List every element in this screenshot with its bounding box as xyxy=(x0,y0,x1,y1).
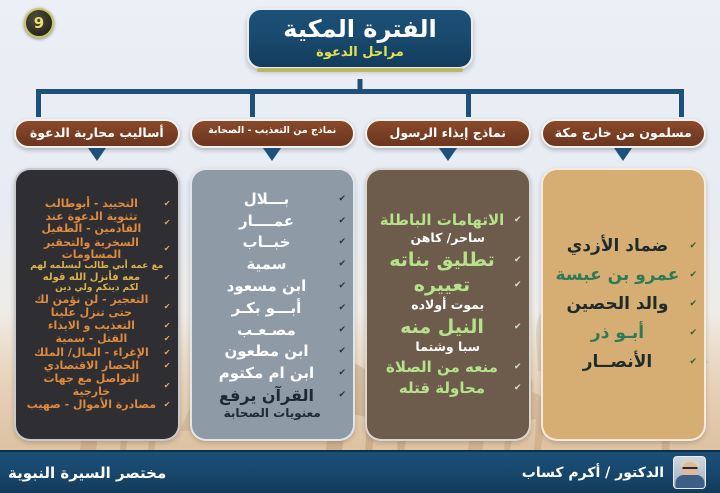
down-arrow-icon-3 xyxy=(263,148,281,161)
check-icon: ✔ xyxy=(338,304,346,313)
list-item: عمــــار xyxy=(199,213,335,230)
list-item: عمرو بن عبسة xyxy=(550,266,686,285)
check-icon: ✔ xyxy=(338,326,346,335)
down-arrow-icon-4 xyxy=(88,148,106,161)
arrow-cell-2 xyxy=(365,148,531,170)
check-icon: ✔ xyxy=(164,382,171,390)
book-title: مختصر السيرة النبوية xyxy=(8,464,166,482)
panel-muslims-outside-mecca: ✔ضماد الأزدي ✔عمرو بن عبسة ✔والد الحصين … xyxy=(541,168,707,441)
avatar-body xyxy=(675,475,704,488)
column-header-2[interactable]: نماذج إيذاء الرسول xyxy=(365,119,531,148)
list-item: أبـو ذر xyxy=(550,324,686,343)
check-icon: ✔ xyxy=(164,401,171,409)
list-item-sub: ساحر/ كاهن xyxy=(374,231,522,245)
list-item: والد الحصين xyxy=(550,295,686,314)
connector-bar xyxy=(36,89,684,94)
list-item: بـــلال xyxy=(199,191,335,208)
title-box: الفترة المكية مراحل الدعوة xyxy=(247,8,472,69)
list-item: ضماد الأزدي xyxy=(550,237,686,256)
check-icon: ✔ xyxy=(338,369,346,378)
check-icon: ✔ xyxy=(514,216,522,225)
list-item: سمية xyxy=(199,256,335,273)
check-icon: ✔ xyxy=(514,256,522,265)
list-item: الإغراء - المال/ الملك xyxy=(23,347,160,359)
check-icon: ✔ xyxy=(338,391,346,400)
list-item: ابن مطعون xyxy=(199,343,335,360)
check-icon: ✔ xyxy=(338,217,346,226)
column-header-3[interactable]: نماذج من التعذيب - الصحابة xyxy=(190,119,356,148)
check-icon: ✔ xyxy=(164,335,171,343)
list-item: مصـعـب xyxy=(199,322,335,339)
list-item: القرآن يرفع xyxy=(199,387,335,405)
column-header-1[interactable]: مسلمون من خارج مكة xyxy=(541,119,707,148)
list-item: محاولة قتله xyxy=(374,380,510,397)
check-icon: ✔ xyxy=(164,274,171,282)
check-icon: ✔ xyxy=(689,329,697,338)
connector-drop-4 xyxy=(679,93,684,117)
down-arrow-icon-2 xyxy=(439,148,457,161)
column-panels: ✔ضماد الأزدي ✔عمرو بن عبسة ✔والد الحصين … xyxy=(14,168,706,441)
connector-drop-2 xyxy=(250,93,255,117)
check-icon: ✔ xyxy=(338,260,346,269)
check-icon: ✔ xyxy=(338,195,346,204)
check-icon: ✔ xyxy=(514,384,522,393)
column-header-4[interactable]: أساليب محاربة الدعوة xyxy=(14,119,180,148)
avatar xyxy=(673,456,706,489)
list-item-sub: بموت أولاده xyxy=(374,298,522,312)
column-headers: مسلمون من خارج مكة نماذج إيذاء الرسول نم… xyxy=(14,119,706,148)
connector-drop-1 xyxy=(36,93,41,117)
list-item: تثنوية الدعوة عند القادمين - الطفيل xyxy=(23,211,160,236)
check-icon: ✔ xyxy=(164,219,171,227)
check-icon: ✔ xyxy=(514,363,522,372)
author-block: الدكتور / أكرم كساب xyxy=(522,456,706,489)
check-icon: ✔ xyxy=(689,358,697,367)
connector-drop-3 xyxy=(466,93,471,117)
list-item: خبــاب xyxy=(199,234,335,251)
title-container: الفترة المكية مراحل الدعوة xyxy=(0,8,720,69)
list-item: السخرية والتحقير المساومات xyxy=(23,237,160,262)
arrow-cell-1 xyxy=(541,148,707,170)
list-item: منعه من الصلاة xyxy=(374,359,510,376)
check-icon: ✔ xyxy=(164,303,171,311)
arrow-cell-3 xyxy=(190,148,356,170)
check-icon: ✔ xyxy=(689,271,697,280)
list-item-sub: مع عمه أبي طالب ليسلمه لهم xyxy=(23,262,171,272)
list-item-sub: سبا وشتما xyxy=(374,340,522,354)
check-icon: ✔ xyxy=(689,242,697,251)
panel-methods-against-dawah: ✔التحييد - أبوطالب ✔تثنوية الدعوة عند ال… xyxy=(14,168,180,441)
list-item: ابن مسعود xyxy=(199,278,335,295)
check-icon: ✔ xyxy=(164,362,171,370)
list-item: القتل - سمية xyxy=(23,333,160,345)
list-item: تعييره xyxy=(374,275,510,296)
infographic-root: 9 الفترة المكية مراحل الدعوة مسلمون من خ… xyxy=(0,0,720,493)
down-arrow-icon-1 xyxy=(614,148,632,161)
list-item: التواصل مع جهات خارجية xyxy=(23,373,160,398)
list-item: النيل منه xyxy=(374,317,510,338)
list-item: أبـــو بكـر xyxy=(199,300,335,317)
check-icon: ✔ xyxy=(689,300,697,309)
check-icon: ✔ xyxy=(164,322,171,330)
list-item: تطليق بناته xyxy=(374,250,510,271)
check-icon: ✔ xyxy=(164,200,171,208)
list-item: الحصار الاقتصادي xyxy=(23,360,160,372)
check-icon: ✔ xyxy=(514,323,522,332)
check-icon: ✔ xyxy=(338,282,346,291)
list-item-sub: معنويات الصحابة xyxy=(199,407,347,420)
panel-tortured-companions: ✔بـــلال ✔عمــــار ✔خبــاب ✔سمية ✔ابن مس… xyxy=(190,168,356,441)
check-icon: ✔ xyxy=(164,349,171,357)
footer-bar: الدكتور / أكرم كساب مختصر السيرة النبوية xyxy=(0,450,720,493)
page-title: الفترة المكية xyxy=(283,16,436,44)
check-icon: ✔ xyxy=(164,245,171,253)
check-icon: ✔ xyxy=(338,347,346,356)
glasses-icon xyxy=(682,467,697,471)
arrow-cell-4 xyxy=(14,148,180,170)
list-item: معه فأنزل الله قوله xyxy=(23,272,160,283)
panel-harm-to-prophet: ✔الاتهامات الباطلة ساحر/ كاهن ✔تطليق بنا… xyxy=(365,168,531,441)
list-item: الأنصــار xyxy=(550,353,686,372)
list-item: التحييد - أبوطالب xyxy=(23,198,160,210)
check-icon: ✔ xyxy=(338,238,346,247)
header-panel-arrows xyxy=(14,148,706,170)
list-item: التعجيز - لن نؤمن لك حتى تنزل علينا xyxy=(23,294,160,319)
page-subtitle: مراحل الدعوة xyxy=(283,45,436,60)
check-icon: ✔ xyxy=(514,281,522,290)
list-item: الاتهامات الباطلة xyxy=(374,212,510,229)
list-item: مصادرة الأموال - صهيب xyxy=(23,399,160,411)
connector-tree xyxy=(36,79,684,124)
author-name: الدكتور / أكرم كساب xyxy=(522,465,664,481)
list-item: ابن ام مكتوم xyxy=(199,365,335,382)
list-item: التعذيب و الايذاء xyxy=(23,320,160,332)
